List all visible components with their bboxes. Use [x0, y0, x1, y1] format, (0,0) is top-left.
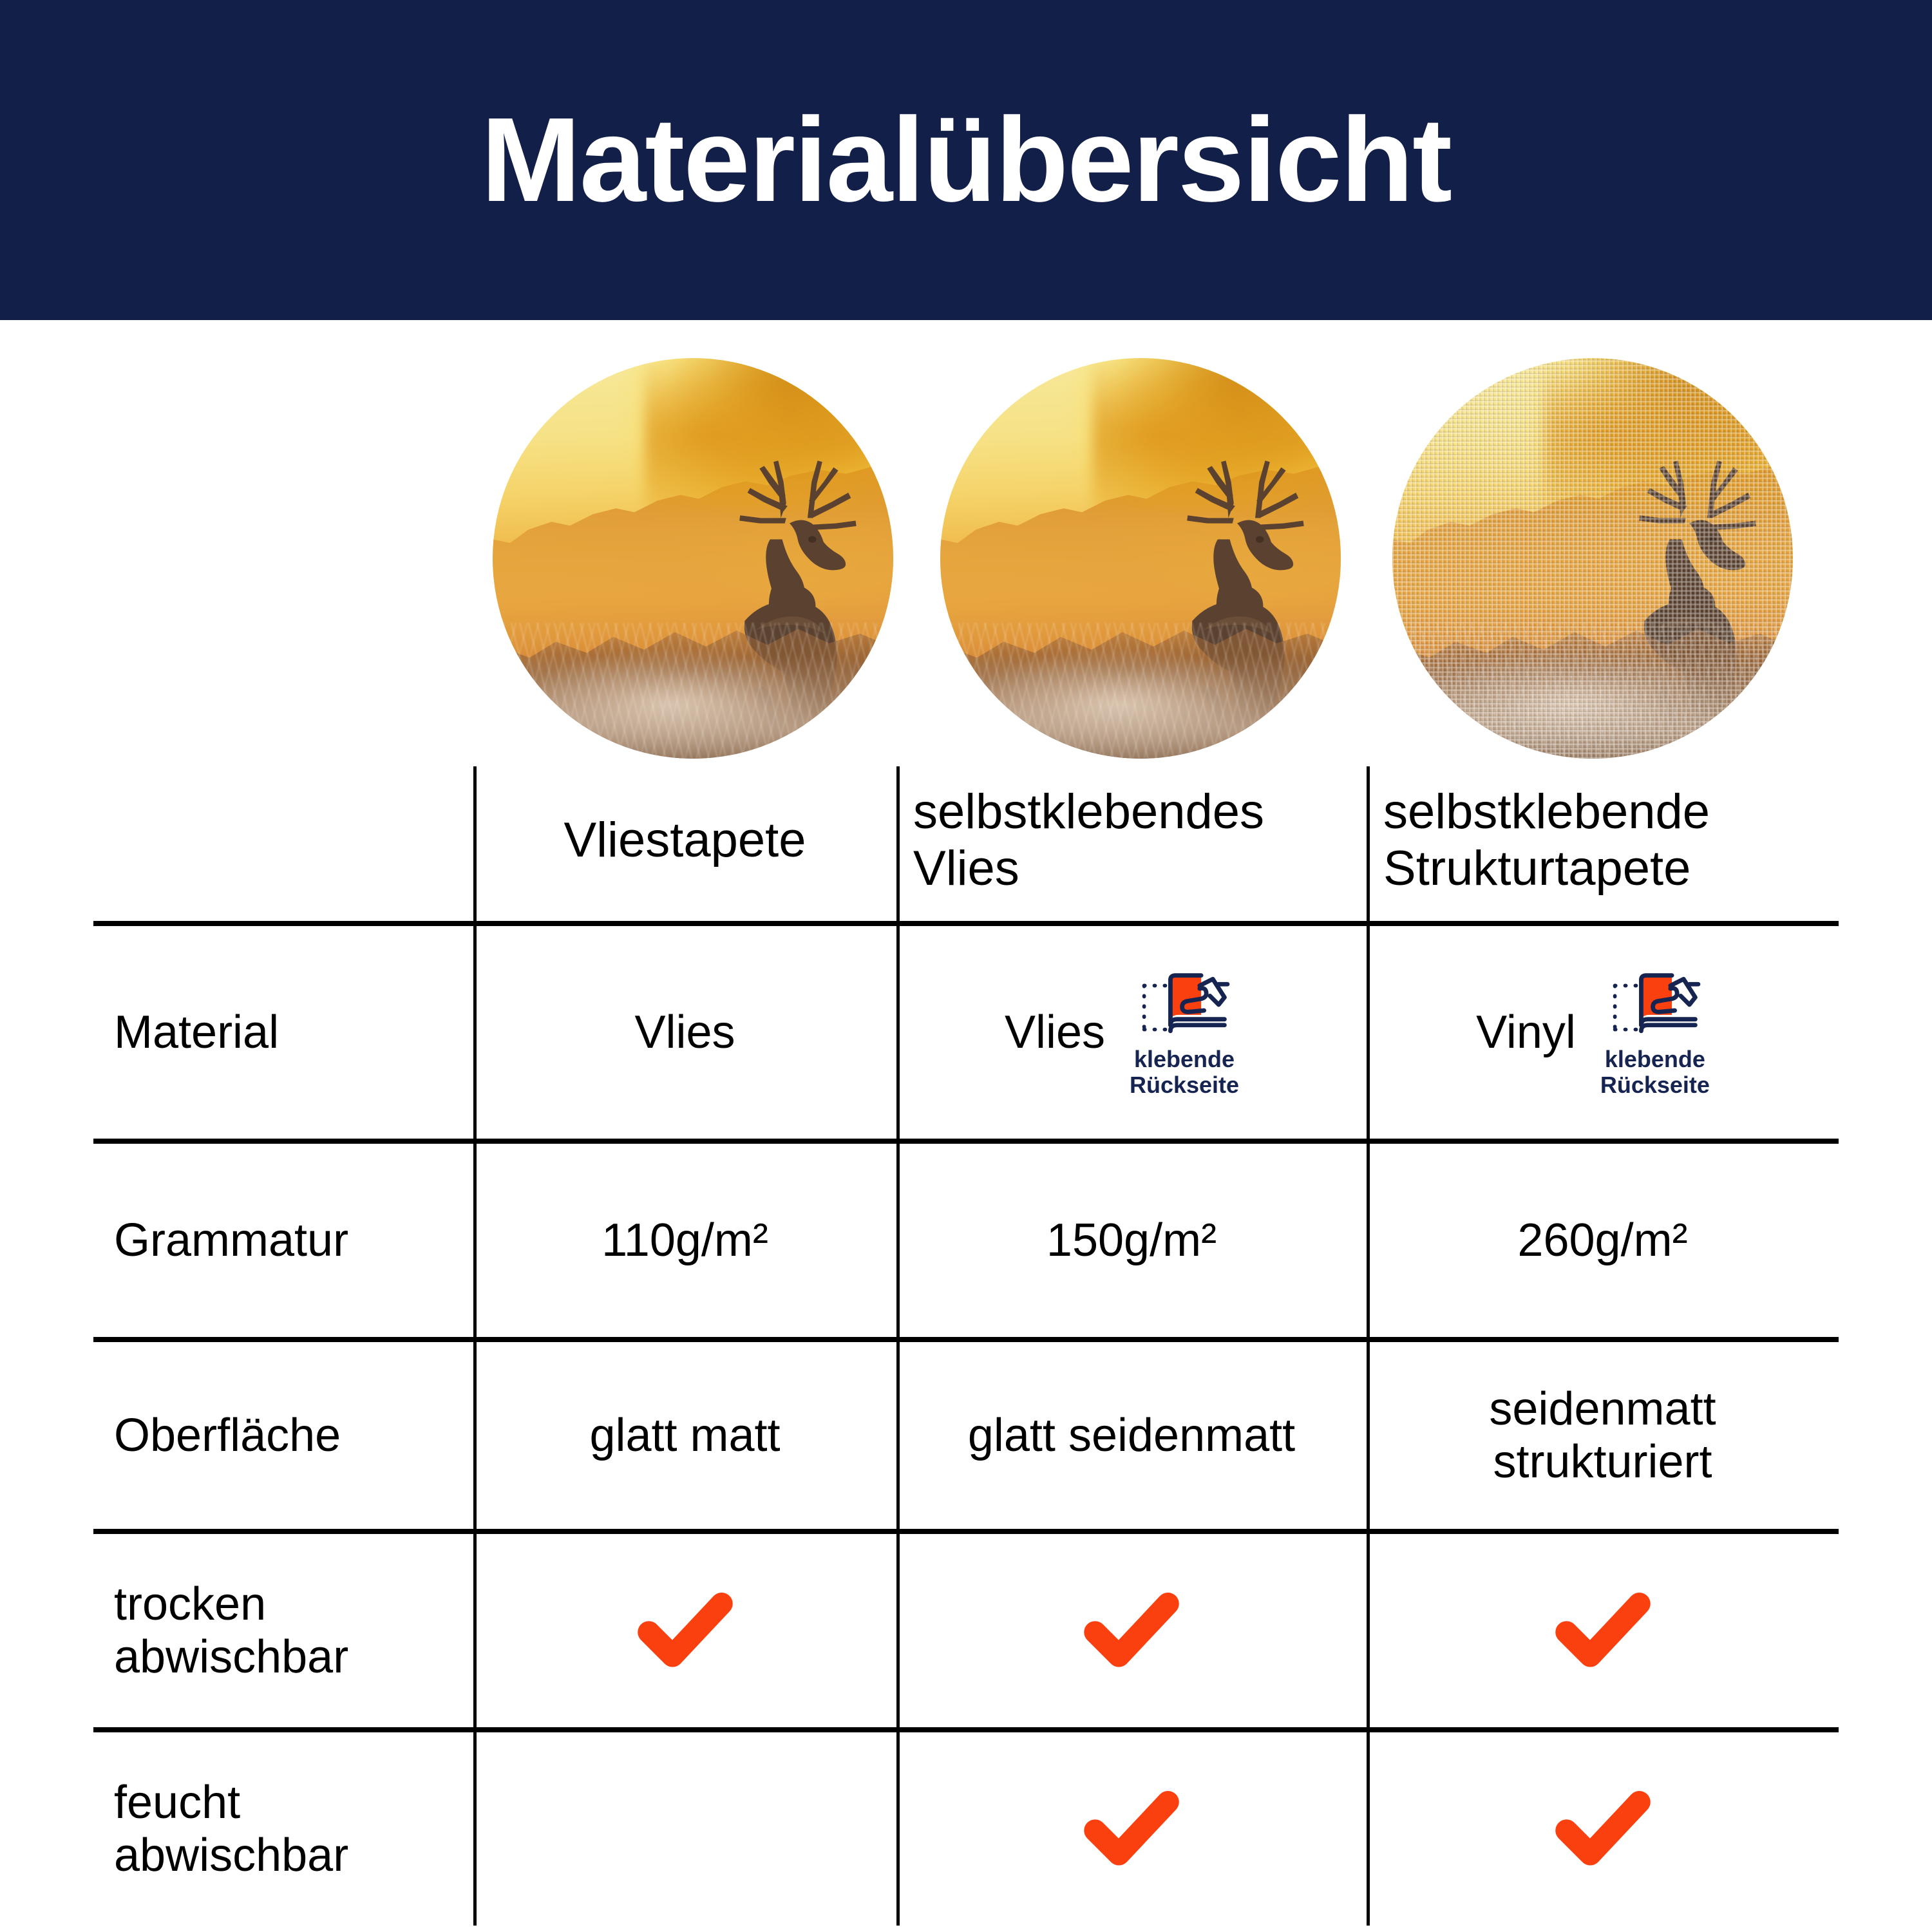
column-header-vliestapete: Vliestapete [473, 766, 896, 921]
check-icon [1083, 1593, 1180, 1669]
no-check-placeholder [637, 1791, 734, 1867]
cell-feucht-strukturtapete [1367, 1732, 1839, 1926]
bracken-frost-detail [493, 623, 893, 759]
badge-line-2: Rückseite [1130, 1072, 1239, 1098]
cell-trocken-strukturtapete [1367, 1534, 1839, 1727]
table-row: Material Vlies Vlies [93, 926, 1839, 1139]
cell-value: Vinyl [1476, 1006, 1576, 1059]
check-icon [1555, 1791, 1651, 1867]
cell-grammatur-strukturtapete: 260g/m² [1367, 1144, 1839, 1337]
badge-line-2: Rückseite [1600, 1072, 1710, 1098]
peel-adhesive-back-icon [1136, 967, 1233, 1043]
row-divider [93, 1727, 1839, 1732]
table-row: trocken abwischbar [93, 1534, 1839, 1727]
adhesive-back-label: klebende Rückseite [1600, 1046, 1710, 1099]
table-row: Oberfläche glatt matt glatt seidenmatt s… [93, 1342, 1839, 1529]
table-header-row: Vliestapete selbstklebendes Vlies selbst… [93, 766, 1839, 921]
cell-material-vliestapete: Vlies [473, 926, 896, 1139]
cell-oberflaeche-strukturtapete: seidenmatt strukturiert [1367, 1342, 1839, 1529]
cell-material-strukturtapete: Vinyl [1367, 926, 1839, 1139]
table-corner-cell [93, 766, 473, 921]
cell-oberflaeche-vliestapete: glatt matt [473, 1342, 896, 1529]
material-preview-strukturtapete [1392, 358, 1793, 759]
cell-feucht-vliestapete [473, 1732, 896, 1926]
check-icon [637, 1593, 734, 1669]
deer-sunset-image [1392, 358, 1793, 759]
material-overview-infographic: Materialübersicht [0, 0, 1932, 1932]
material-comparison-table: Vliestapete selbstklebendes Vlies selbst… [93, 766, 1839, 1926]
adhesive-back-badge: klebende Rückseite [1581, 967, 1729, 1099]
deer-sunset-image [940, 358, 1341, 759]
row-label-grammatur: Grammatur [93, 1144, 473, 1337]
cell-trocken-vliestapete [473, 1534, 896, 1727]
cell-value: Vlies [1005, 1006, 1105, 1059]
row-divider [93, 921, 1839, 926]
column-header-strukturtapete: selbstklebende Strukturtapete [1367, 766, 1839, 921]
row-label-oberflaeche: Oberfläche [93, 1342, 473, 1529]
adhesive-back-label: klebende Rückseite [1130, 1046, 1239, 1099]
peel-adhesive-back-icon [1607, 967, 1703, 1043]
column-header-selbstklebendes-vlies: selbstklebendes Vlies [896, 766, 1367, 921]
material-preview-vliestapete [493, 358, 893, 759]
cell-value: Vlies [634, 1006, 735, 1059]
bracken-frost-detail [940, 623, 1341, 759]
badge-line-1: klebende [1605, 1046, 1705, 1072]
deer-sunset-image [493, 358, 893, 759]
page-title: Materialübersicht [481, 100, 1451, 220]
check-icon [1083, 1791, 1180, 1867]
cell-grammatur-vliestapete: 110g/m² [473, 1144, 896, 1337]
row-divider [93, 1337, 1839, 1342]
cell-trocken-selbstklebendes-vlies [896, 1534, 1367, 1727]
cell-material-selbstklebendes-vlies: Vlies [896, 926, 1367, 1139]
row-divider [93, 1529, 1839, 1534]
check-icon [1555, 1593, 1651, 1669]
cell-grammatur-selbstklebendes-vlies: 150g/m² [896, 1144, 1367, 1337]
cell-oberflaeche-selbstklebendes-vlies: glatt seidenmatt [896, 1342, 1367, 1529]
canvas-texture-highlight [1392, 358, 1793, 759]
row-divider [93, 1139, 1839, 1144]
badge-line-1: klebende [1134, 1046, 1235, 1072]
header-banner: Materialübersicht [0, 0, 1932, 320]
material-preview-selbstklebendes-vlies [940, 358, 1341, 759]
cell-feucht-selbstklebendes-vlies [896, 1732, 1367, 1926]
table-row: Grammatur 110g/m² 150g/m² 260g/m² [93, 1144, 1839, 1337]
row-label-material: Material [93, 926, 473, 1139]
adhesive-back-badge: klebende Rückseite [1110, 967, 1258, 1099]
row-label-trocken-abwischbar: trocken abwischbar [93, 1534, 473, 1727]
table-row: feucht abwischbar [93, 1732, 1839, 1926]
row-label-feucht-abwischbar: feucht abwischbar [93, 1732, 473, 1926]
